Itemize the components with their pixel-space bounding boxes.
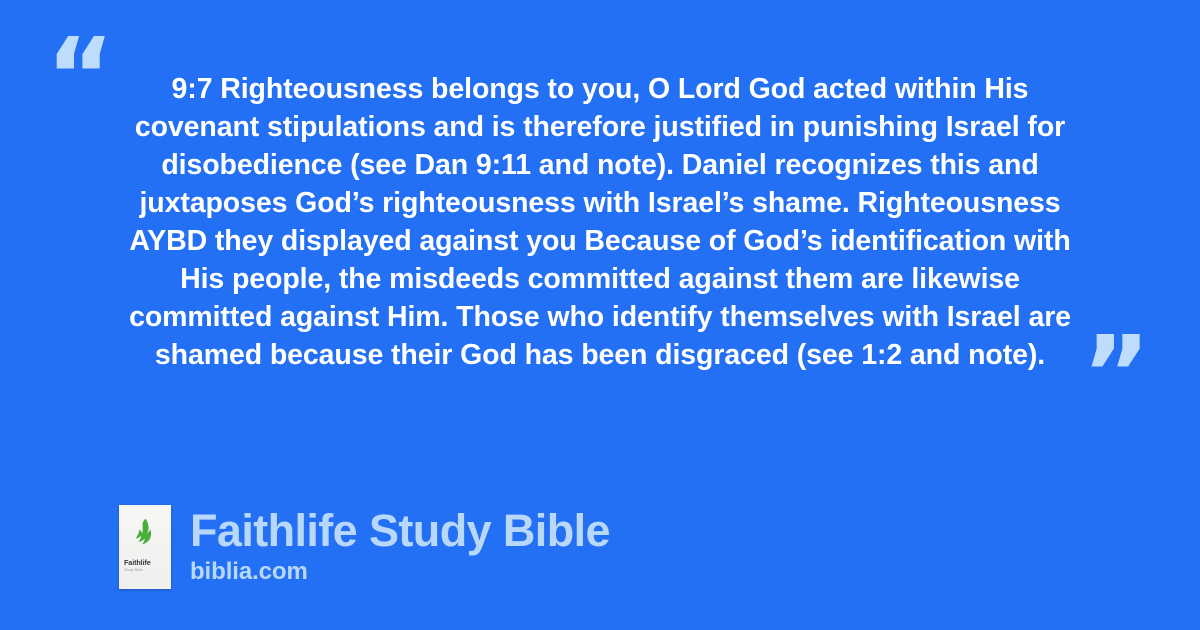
book-cover-wordmark-main: Faithlife [124,559,151,567]
branding: Faithlife Study Bible Faithlife Study Bi… [119,505,610,589]
book-cover-wordmark: Faithlife Study Bible [124,559,151,573]
closing-quote-icon: ” [1082,322,1148,426]
quote-text: 9:7 Righteousness belongs to you, O Lord… [113,70,1087,374]
opening-quote-icon: “ [46,24,112,128]
brand-text-block: Faithlife Study Bible biblia.com [190,505,610,586]
brand-title: Faithlife Study Bible [190,506,610,556]
book-cover-wordmark-sub: Study Bible [124,568,151,573]
faithlife-flame-icon [133,518,157,546]
quote-card: “ 9:7 Righteousness belongs to you, O Lo… [0,0,1200,630]
book-cover-thumbnail: Faithlife Study Bible [119,505,171,589]
brand-website[interactable]: biblia.com [190,558,610,586]
